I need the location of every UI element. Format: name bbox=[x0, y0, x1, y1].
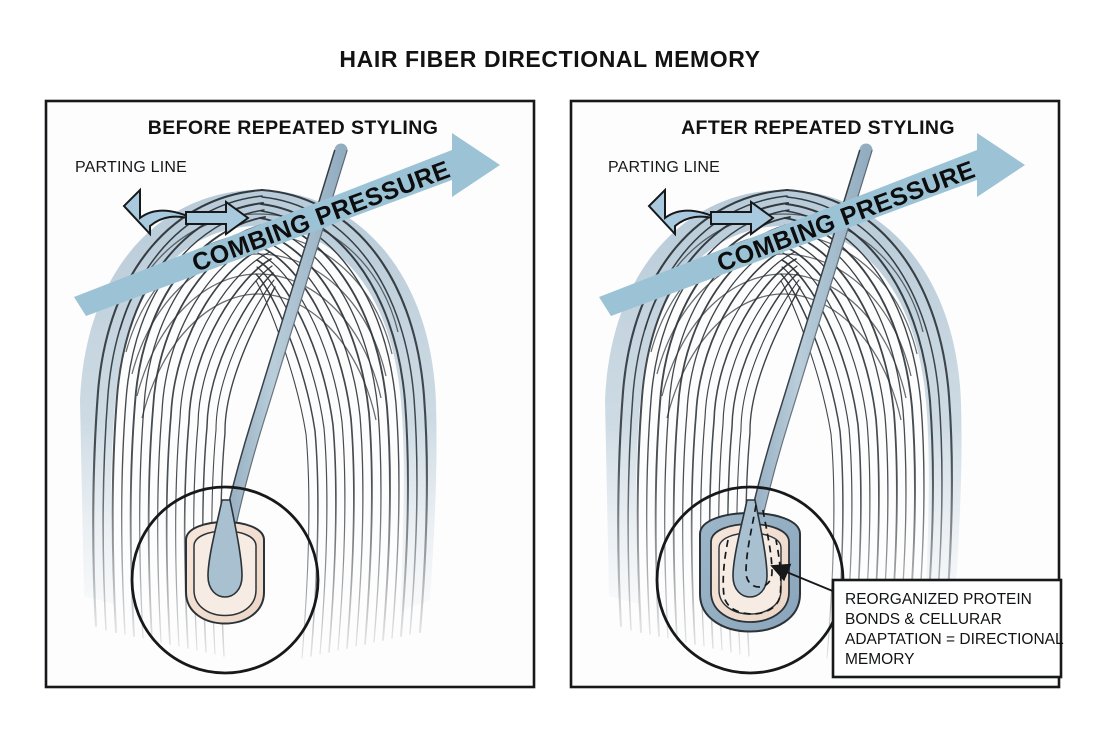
follicle-detail-before bbox=[132, 487, 318, 673]
panel-header-after: AFTER REPEATED STYLING bbox=[681, 117, 955, 139]
parting-line-label-after: PARTING LINE bbox=[608, 159, 720, 176]
callout-box: REORGANIZED PROTEIN BONDS & CELLURAR ADA… bbox=[833, 580, 1064, 677]
callout-line-3: ADAPTATION = DIRECTIONAL bbox=[845, 631, 1064, 648]
callout-line-4: MEMORY bbox=[845, 651, 914, 668]
parting-line-label-before: PARTING LINE bbox=[75, 159, 187, 176]
callout-line-2: BONDS & CELLURAR bbox=[845, 611, 1002, 628]
panel-header-before: BEFORE REPEATED STYLING bbox=[148, 117, 439, 139]
diagram-canvas: HAIR FIBER DIRECTIONAL MEMORY BEFORE REP… bbox=[0, 0, 1100, 733]
panel-before: BEFORE REPEATED STYLING bbox=[46, 101, 534, 687]
figure-title: HAIR FIBER DIRECTIONAL MEMORY bbox=[339, 46, 760, 72]
callout-line-1: REORGANIZED PROTEIN bbox=[845, 591, 1032, 608]
